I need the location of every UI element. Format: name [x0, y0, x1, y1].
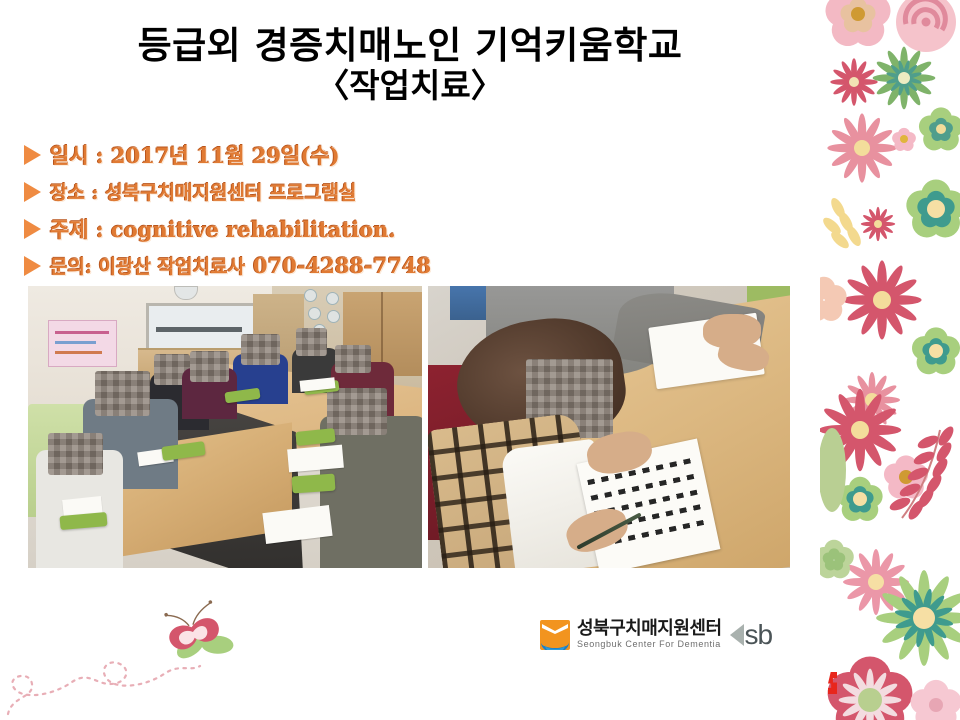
page-title: 등급외 경증치매노인 기억키움학교	[40, 26, 780, 66]
sb-wordmark: sb	[745, 621, 773, 649]
classroom-group-photo	[28, 286, 422, 568]
info-contact-phone: 070-4288-7748	[253, 253, 431, 278]
page-subtitle: 〈작업치료〉	[40, 68, 780, 105]
info-topic-text: 주제 : cognitive rehabilitation.	[50, 214, 396, 244]
sb-mark: sb	[730, 621, 773, 649]
info-date-text: 일시 : 2017년 11월 29일(수)	[50, 140, 340, 170]
list-item: 주제 : cognitive rehabilitation.	[24, 210, 584, 247]
butterfly-decoration	[0, 588, 300, 720]
triangle-bullet-icon	[24, 256, 41, 276]
organization-logo: 성북구치매지원센터 Seongbuk Center For Dementia s…	[540, 614, 772, 656]
triangle-bullet-icon	[24, 182, 41, 202]
info-list: 일시 : 2017년 11월 29일(수) 장소 : 성북구치매지원센터 프로그…	[24, 136, 584, 284]
title-block: 등급외 경증치매노인 기억키움학교 〈작업치료〉	[40, 26, 780, 105]
info-contact-text: 문의: 이광산 작업치료사	[50, 252, 245, 279]
closeup-worksheet-photo	[428, 286, 790, 568]
photo-row	[28, 286, 790, 568]
feather-icon	[730, 624, 744, 646]
triangle-bullet-icon	[24, 145, 41, 165]
list-item: 일시 : 2017년 11월 29일(수)	[24, 136, 584, 173]
list-item: 장소 : 성북구치매지원센터 프로그램실	[24, 173, 584, 210]
floral-pattern-border	[820, 0, 960, 720]
floral-pattern-svg	[820, 0, 960, 720]
triangle-bullet-icon	[24, 219, 41, 239]
logo-name-kr: 성북구치매지원센터	[577, 620, 722, 639]
list-item: 문의: 이광산 작업치료사 070-4288-7748	[24, 247, 584, 284]
info-place-text: 장소 : 성북구치매지원센터 프로그램실	[50, 178, 357, 205]
orange-bird-square-icon	[540, 620, 570, 650]
presentation-slide: 등급외 경증치매노인 기억키움학교 〈작업치료〉 일시 : 2017년 11월 …	[0, 0, 960, 720]
logo-name-en: Seongbuk Center For Dementia	[577, 639, 722, 651]
